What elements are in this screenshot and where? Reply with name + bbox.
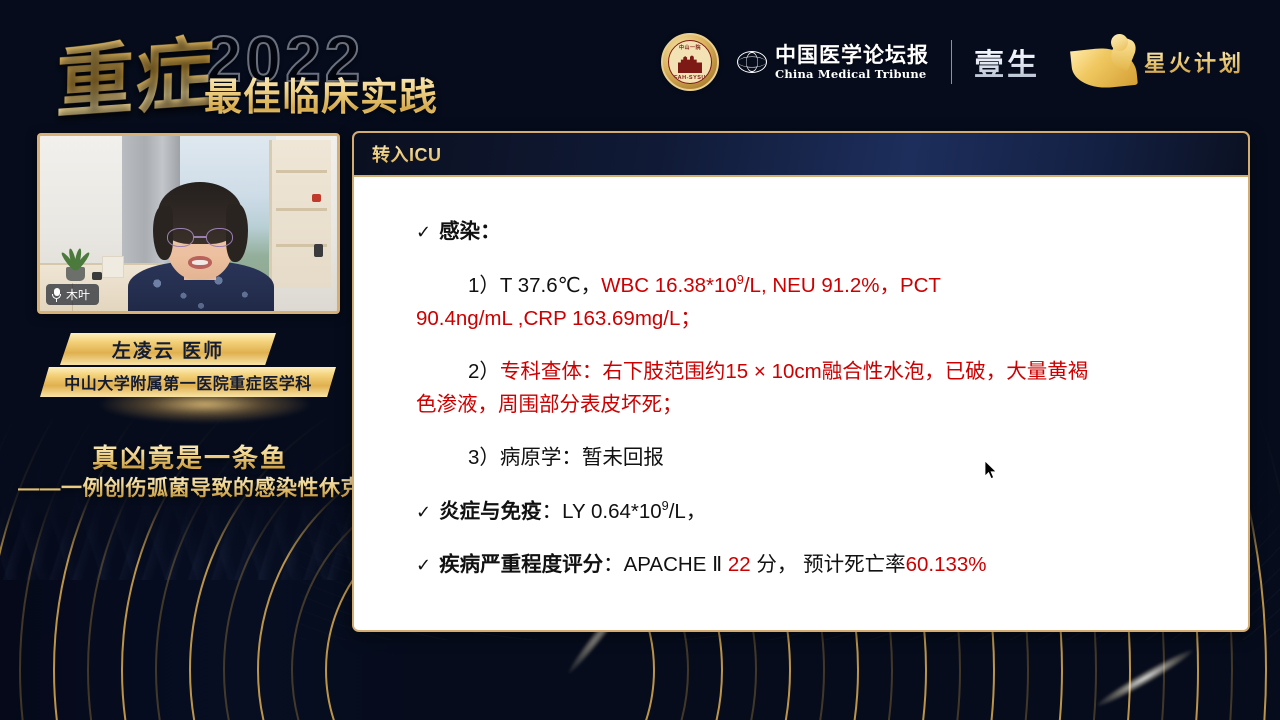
slide-line-pathogen: 3）病原学：暂未回报 (416, 445, 1214, 470)
labs-pct-crp: 90.4ng/mL ,CRP 163.69mg/L； (416, 307, 701, 330)
check-icon-2: ✓ (416, 502, 431, 522)
infection-label: 感染 (439, 220, 480, 243)
topic-subtitle: ——一例创伤弧菌导致的感染性休克 (0, 472, 380, 502)
speaker-figure (136, 180, 264, 314)
labs-neu-pct: /L, NEU 91.2%，PCT (744, 274, 941, 297)
presentation-stage: 2022 重症 最佳临床实践 中山一院 FAH-SYSU 中国医学论坛报 Chi… (0, 0, 1280, 720)
slide-line-severity: ✓疾病严重程度评分：APACHE Ⅱ 22 分， 预计死亡率60.133% (416, 552, 1214, 577)
exam-number: 2） (468, 360, 500, 383)
labs-temp: 1）T 37.6℃， (468, 274, 601, 297)
logo-divider (951, 40, 952, 84)
slide-content: ✓感染： 1）T 37.6℃，WBC 16.38*109/L, NEU 91.2… (354, 177, 1248, 632)
slide-line-exam-2: 色渗液，周围部分表皮坏死； (416, 392, 1214, 417)
inflammation-ly: ：LY 0.64*10 (542, 500, 662, 523)
speaker-affiliation: 中山大学附属第一医院重症医学科 (64, 370, 312, 394)
xinghuo-figure-icon (1072, 34, 1138, 90)
participant-name: 木叶 (66, 286, 90, 303)
slide-line-inflammation: ✓炎症与免疫：LY 0.64*109/L， (416, 498, 1214, 524)
xinghuo-program-logo: 星火计划 (1072, 34, 1244, 90)
cmt-english-name: China Medical Tribune (775, 69, 929, 81)
slide-line-labs-1: 1）T 37.6℃，WBC 16.38*109/L, NEU 91.2%，PCT (416, 272, 1214, 298)
inflammation-exponent: 9 (662, 498, 669, 513)
microphone-icon (52, 288, 61, 301)
event-logo: 2022 重症 最佳临床实践 (56, 14, 476, 118)
slide-header-bar: 转入ICU (354, 133, 1248, 177)
slide-line-labs-2: 90.4ng/mL ,CRP 163.69mg/L； (416, 306, 1214, 331)
speaker-video-thumbnail[interactable]: 木叶 (37, 133, 340, 314)
exam-text-1: 专科查体：右下肢范围约15 × 10cm融合性水泡，已破，大量黄褐 (500, 360, 1088, 383)
sponsor-logo-bar: 中山一院 FAH-SYSU 中国医学论坛报 China Medical Trib… (661, 26, 1244, 98)
pathogen-text: 3）病原学：暂未回报 (468, 446, 664, 469)
severity-apache: ：APACHE Ⅱ (603, 553, 728, 576)
seal-building-icon (678, 55, 702, 73)
fah-sysu-seal-icon: 中山一院 FAH-SYSU (661, 33, 719, 91)
inflammation-unit: /L， (669, 500, 707, 523)
severity-mortality-label: 分， 预计死亡率 (751, 553, 906, 576)
inflammation-label: 炎症与免疫 (439, 500, 542, 523)
severity-mortality-value: 60.133% (906, 553, 987, 576)
slide-panel: 转入ICU ✓感染： 1）T 37.6℃，WBC 16.38*109/L, NE… (352, 131, 1250, 632)
severity-label: 疾病严重程度评分 (439, 553, 603, 576)
mouse-cursor (985, 461, 998, 480)
severity-score: 22 (728, 553, 751, 576)
labs-wbc: WBC 16.38*10 (601, 274, 737, 297)
check-icon: ✓ (416, 222, 431, 242)
slide-line-infection: ✓感染： (416, 219, 1214, 244)
slide-line-exam-1: 2）专科查体：右下肢范围约15 × 10cm融合性水泡，已破，大量黄褐 (416, 359, 1214, 384)
seal-bottom-text: FAH-SYSU (669, 75, 711, 81)
event-logo-calligraphy: 重症 (55, 10, 217, 134)
slide-header-title: 转入ICU (372, 141, 442, 167)
seal-top-text: 中山一院 (669, 44, 711, 51)
speaker-affiliation-ribbon: 中山大学附属第一医院重症医学科 (40, 367, 336, 397)
infection-colon: ： (480, 220, 501, 243)
speaker-name-ribbon: 左凌云 医师 (60, 333, 276, 365)
event-logo-subtitle: 最佳临床实践 (204, 66, 438, 121)
china-medical-tribune-logo: 中国医学论坛报 China Medical Tribune (737, 44, 929, 81)
exam-text-2: 色渗液，周围部分表皮坏死； (416, 393, 683, 416)
globe-icon (737, 51, 767, 73)
speaker-name: 左凌云 医师 (112, 336, 224, 363)
xinghuo-label: 星火计划 (1144, 46, 1244, 78)
labs-wbc-exponent: 9 (737, 272, 744, 287)
topic-title: 真凶竟是一条鱼 (0, 438, 380, 475)
video-name-badge: 木叶 (46, 284, 99, 305)
check-icon-3: ✓ (416, 555, 431, 575)
yisheng-logo: 壹生 (974, 40, 1040, 84)
cmt-chinese-name: 中国医学论坛报 (775, 44, 929, 65)
